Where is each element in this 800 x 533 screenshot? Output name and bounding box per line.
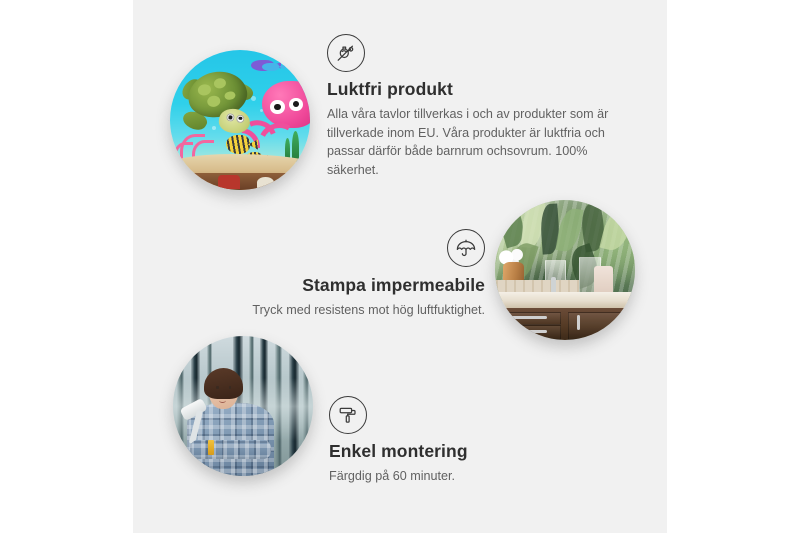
feature-block-luktfri-produkt: Luktfri produkt Alla våra tavlor tillver…	[327, 34, 627, 179]
feature-title: Enkel montering	[329, 441, 629, 463]
sea-floor-shadow-strip	[170, 173, 310, 190]
no-odor-spray-bottle-icon	[327, 34, 365, 72]
door-handle	[577, 315, 580, 330]
person-smile	[219, 398, 226, 403]
person-crossed-arms	[190, 440, 271, 460]
bubble-icon	[212, 126, 216, 130]
turtle-eye	[226, 113, 235, 122]
paint-roller-icon	[329, 396, 367, 434]
person-hair	[204, 368, 243, 399]
icon-row	[153, 229, 485, 267]
turtle-eye	[236, 114, 245, 123]
drawer-handle	[508, 330, 547, 333]
icon-row	[327, 34, 627, 72]
shell	[257, 177, 274, 188]
person-eye	[229, 386, 231, 388]
person-eye	[216, 386, 218, 388]
feature-body: Tryck med resistens mot hög luftfuktighe…	[153, 301, 485, 320]
feature-body: Färgdig på 60 minuter.	[329, 467, 629, 486]
icon-row	[329, 396, 629, 434]
wooden-vanity	[495, 308, 635, 340]
yellow-tool	[208, 440, 214, 455]
crab	[218, 175, 240, 189]
umbrella-icon	[447, 229, 485, 267]
drawer-handle	[508, 316, 547, 319]
content-canvas: Luktfri produkt Alla våra tavlor tillver…	[133, 0, 667, 533]
feature-body: Alla våra tavlor tillverkas i och av pro…	[327, 105, 617, 180]
promo-infographic-page: Luktfri produkt Alla våra tavlor tillver…	[0, 0, 800, 533]
fish-blue	[262, 63, 279, 71]
octopus-eye	[289, 98, 302, 111]
marble-countertop	[495, 292, 635, 307]
feature-block-stampa-impermeabile: Stampa impermeabile Tryck med resistens …	[153, 229, 485, 320]
feature-title: Luktfri produkt	[327, 79, 627, 101]
octopus-eye	[270, 100, 285, 114]
fish-striped	[226, 135, 250, 153]
feature-title: Stampa impermeabile	[153, 275, 485, 297]
plaid-pattern	[190, 440, 271, 460]
photo-woman-with-paint-roller-forest	[173, 336, 313, 476]
feature-block-enkel-montering: Enkel montering Färgdig på 60 minuter.	[329, 396, 629, 486]
photo-bathroom-tropical-leaf-wallpaper	[495, 200, 635, 340]
photo-underwater-sea-life-illustration	[170, 50, 310, 190]
